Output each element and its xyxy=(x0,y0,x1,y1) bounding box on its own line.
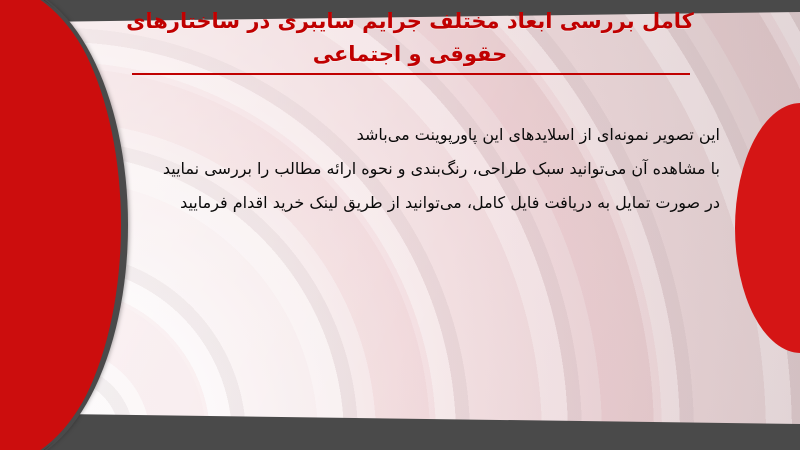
slide-title-line-1: کامل بررسی ابعاد مختلف جرایم سایبری در س… xyxy=(110,5,710,38)
slide-title: کامل بررسی ابعاد مختلف جرایم سایبری در س… xyxy=(110,5,710,71)
body-line-1: این تصویر نمونه‌ای از اسلایدهای این پاور… xyxy=(60,118,720,152)
presentation-slide: کامل بررسی ابعاد مختلف جرایم سایبری در س… xyxy=(0,0,800,450)
title-underline-rule xyxy=(132,73,690,75)
body-line-3: در صورت تمایل به دریافت فایل کامل، می‌تو… xyxy=(60,186,720,220)
slide-body-text: این تصویر نمونه‌ای از اسلایدهای این پاور… xyxy=(60,118,720,220)
slide-title-line-2: حقوقی و اجتماعی xyxy=(110,38,710,71)
body-line-2: با مشاهده آن می‌توانید سبک طراحی، رنگ‌بن… xyxy=(60,152,720,186)
